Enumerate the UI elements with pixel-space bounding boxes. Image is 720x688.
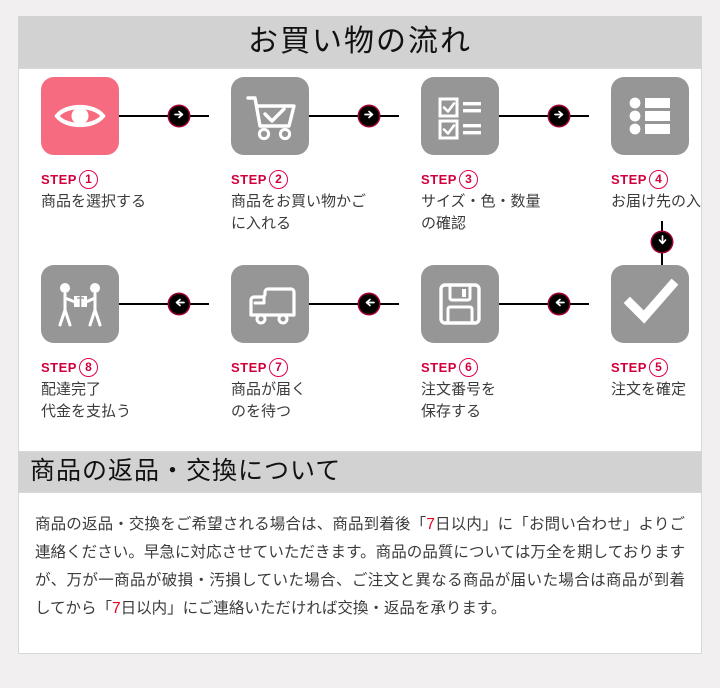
- returns-text-part-3: 日以内」にご連絡いただければ交換・返品を承ります。: [121, 600, 507, 617]
- returns-text-part-1: 商品の返品・交換をご希望される場合は、商品到着後「: [35, 516, 426, 533]
- step-6-tile: [421, 265, 499, 343]
- step-4-tile: [611, 77, 689, 155]
- step-number: 7: [269, 358, 288, 377]
- step-5-label: STEP5: [611, 358, 668, 377]
- shopping-cart-icon: [231, 77, 309, 155]
- step-6-label: STEP6: [421, 358, 478, 377]
- step-number: 8: [79, 358, 98, 377]
- step-word: STEP: [421, 360, 457, 375]
- step-8-tile: [41, 265, 119, 343]
- step-item-5[interactable]: STEP5 注文を確定: [593, 265, 702, 440]
- step-1-tile: [41, 77, 119, 155]
- step-1-caption: 商品を選択する: [41, 191, 221, 213]
- step-1-label: STEP1: [41, 170, 98, 189]
- step-8-caption: 配達完了 代金を支払う: [41, 379, 221, 423]
- step-item-4[interactable]: STEP4 お届け先の入力: [593, 77, 702, 252]
- returns-highlight-days-1: 7: [426, 516, 435, 533]
- page-title: お買い物の流れ: [18, 16, 702, 68]
- step-number: 1: [79, 170, 98, 189]
- returns-note-panel: 商品の返品・交換をご希望される場合は、商品到着後「7日以内」に「お問い合わせ」よ…: [18, 492, 702, 654]
- step-5-tile: [611, 265, 689, 343]
- arrow-down-icon: [652, 232, 672, 252]
- step-7-label: STEP7: [231, 358, 288, 377]
- step-4-label: STEP4: [611, 170, 668, 189]
- step-7-tile: [231, 265, 309, 343]
- step-5-caption: 注文を確定: [611, 379, 702, 401]
- returns-heading: 商品の返品・交換について: [18, 452, 702, 492]
- flow-diagram-panel: STEP1 商品を選択する STEP2 商品をお買い物かご に入れ: [18, 68, 702, 452]
- step-number: 2: [269, 170, 288, 189]
- step-item-8[interactable]: STEP8 配達完了 代金を支払う: [23, 265, 193, 440]
- step-item-7[interactable]: STEP7 商品が届く のを待つ: [213, 265, 383, 440]
- flow-row-top: STEP1 商品を選択する STEP2 商品をお買い物かご に入れ: [19, 77, 701, 252]
- step-4-caption: お届け先の入力: [611, 191, 702, 213]
- step-item-3[interactable]: STEP3 サイズ・色・数量 の確認: [403, 77, 573, 252]
- step-3-tile: [421, 77, 499, 155]
- step-6-caption: 注文番号を 保存する: [421, 379, 601, 423]
- step-word: STEP: [231, 360, 267, 375]
- step-word: STEP: [41, 172, 77, 187]
- delivery-truck-icon: [231, 265, 309, 343]
- step-word: STEP: [611, 172, 647, 187]
- step-item-1[interactable]: STEP1 商品を選択する: [23, 77, 193, 252]
- step-word: STEP: [41, 360, 77, 375]
- flow-row-bottom: STEP8 配達完了 代金を支払う STEP7 商品が届く のを待: [19, 265, 701, 440]
- step-number: 5: [649, 358, 668, 377]
- step-item-6[interactable]: STEP6 注文番号を 保存する: [403, 265, 573, 440]
- checkmark-icon: [611, 265, 689, 343]
- floppy-disk-save-icon: [421, 265, 499, 343]
- eye-icon: [41, 77, 119, 155]
- step-number: 3: [459, 170, 478, 189]
- step-number: 4: [649, 170, 668, 189]
- step-3-label: STEP3: [421, 170, 478, 189]
- bullet-list-icon: [611, 77, 689, 155]
- checklist-icon: [421, 77, 499, 155]
- handover-people-icon: [41, 265, 119, 343]
- returns-highlight-days-2: 7: [112, 600, 121, 617]
- step-word: STEP: [611, 360, 647, 375]
- step-2-label: STEP2: [231, 170, 288, 189]
- step-8-label: STEP8: [41, 358, 98, 377]
- step-2-tile: [231, 77, 309, 155]
- step-7-caption: 商品が届く のを待つ: [231, 379, 411, 423]
- shopping-flow-page: お買い物の流れ: [0, 16, 720, 688]
- step-word: STEP: [231, 172, 267, 187]
- returns-body-text: 商品の返品・交換をご希望される場合は、商品到着後「7日以内」に「お問い合わせ」よ…: [35, 511, 685, 623]
- step-number: 6: [459, 358, 478, 377]
- step-item-2[interactable]: STEP2 商品をお買い物かご に入れる: [213, 77, 383, 252]
- step-word: STEP: [421, 172, 457, 187]
- step-3-caption: サイズ・色・数量 の確認: [421, 191, 601, 235]
- step-2-caption: 商品をお買い物かご に入れる: [231, 191, 411, 235]
